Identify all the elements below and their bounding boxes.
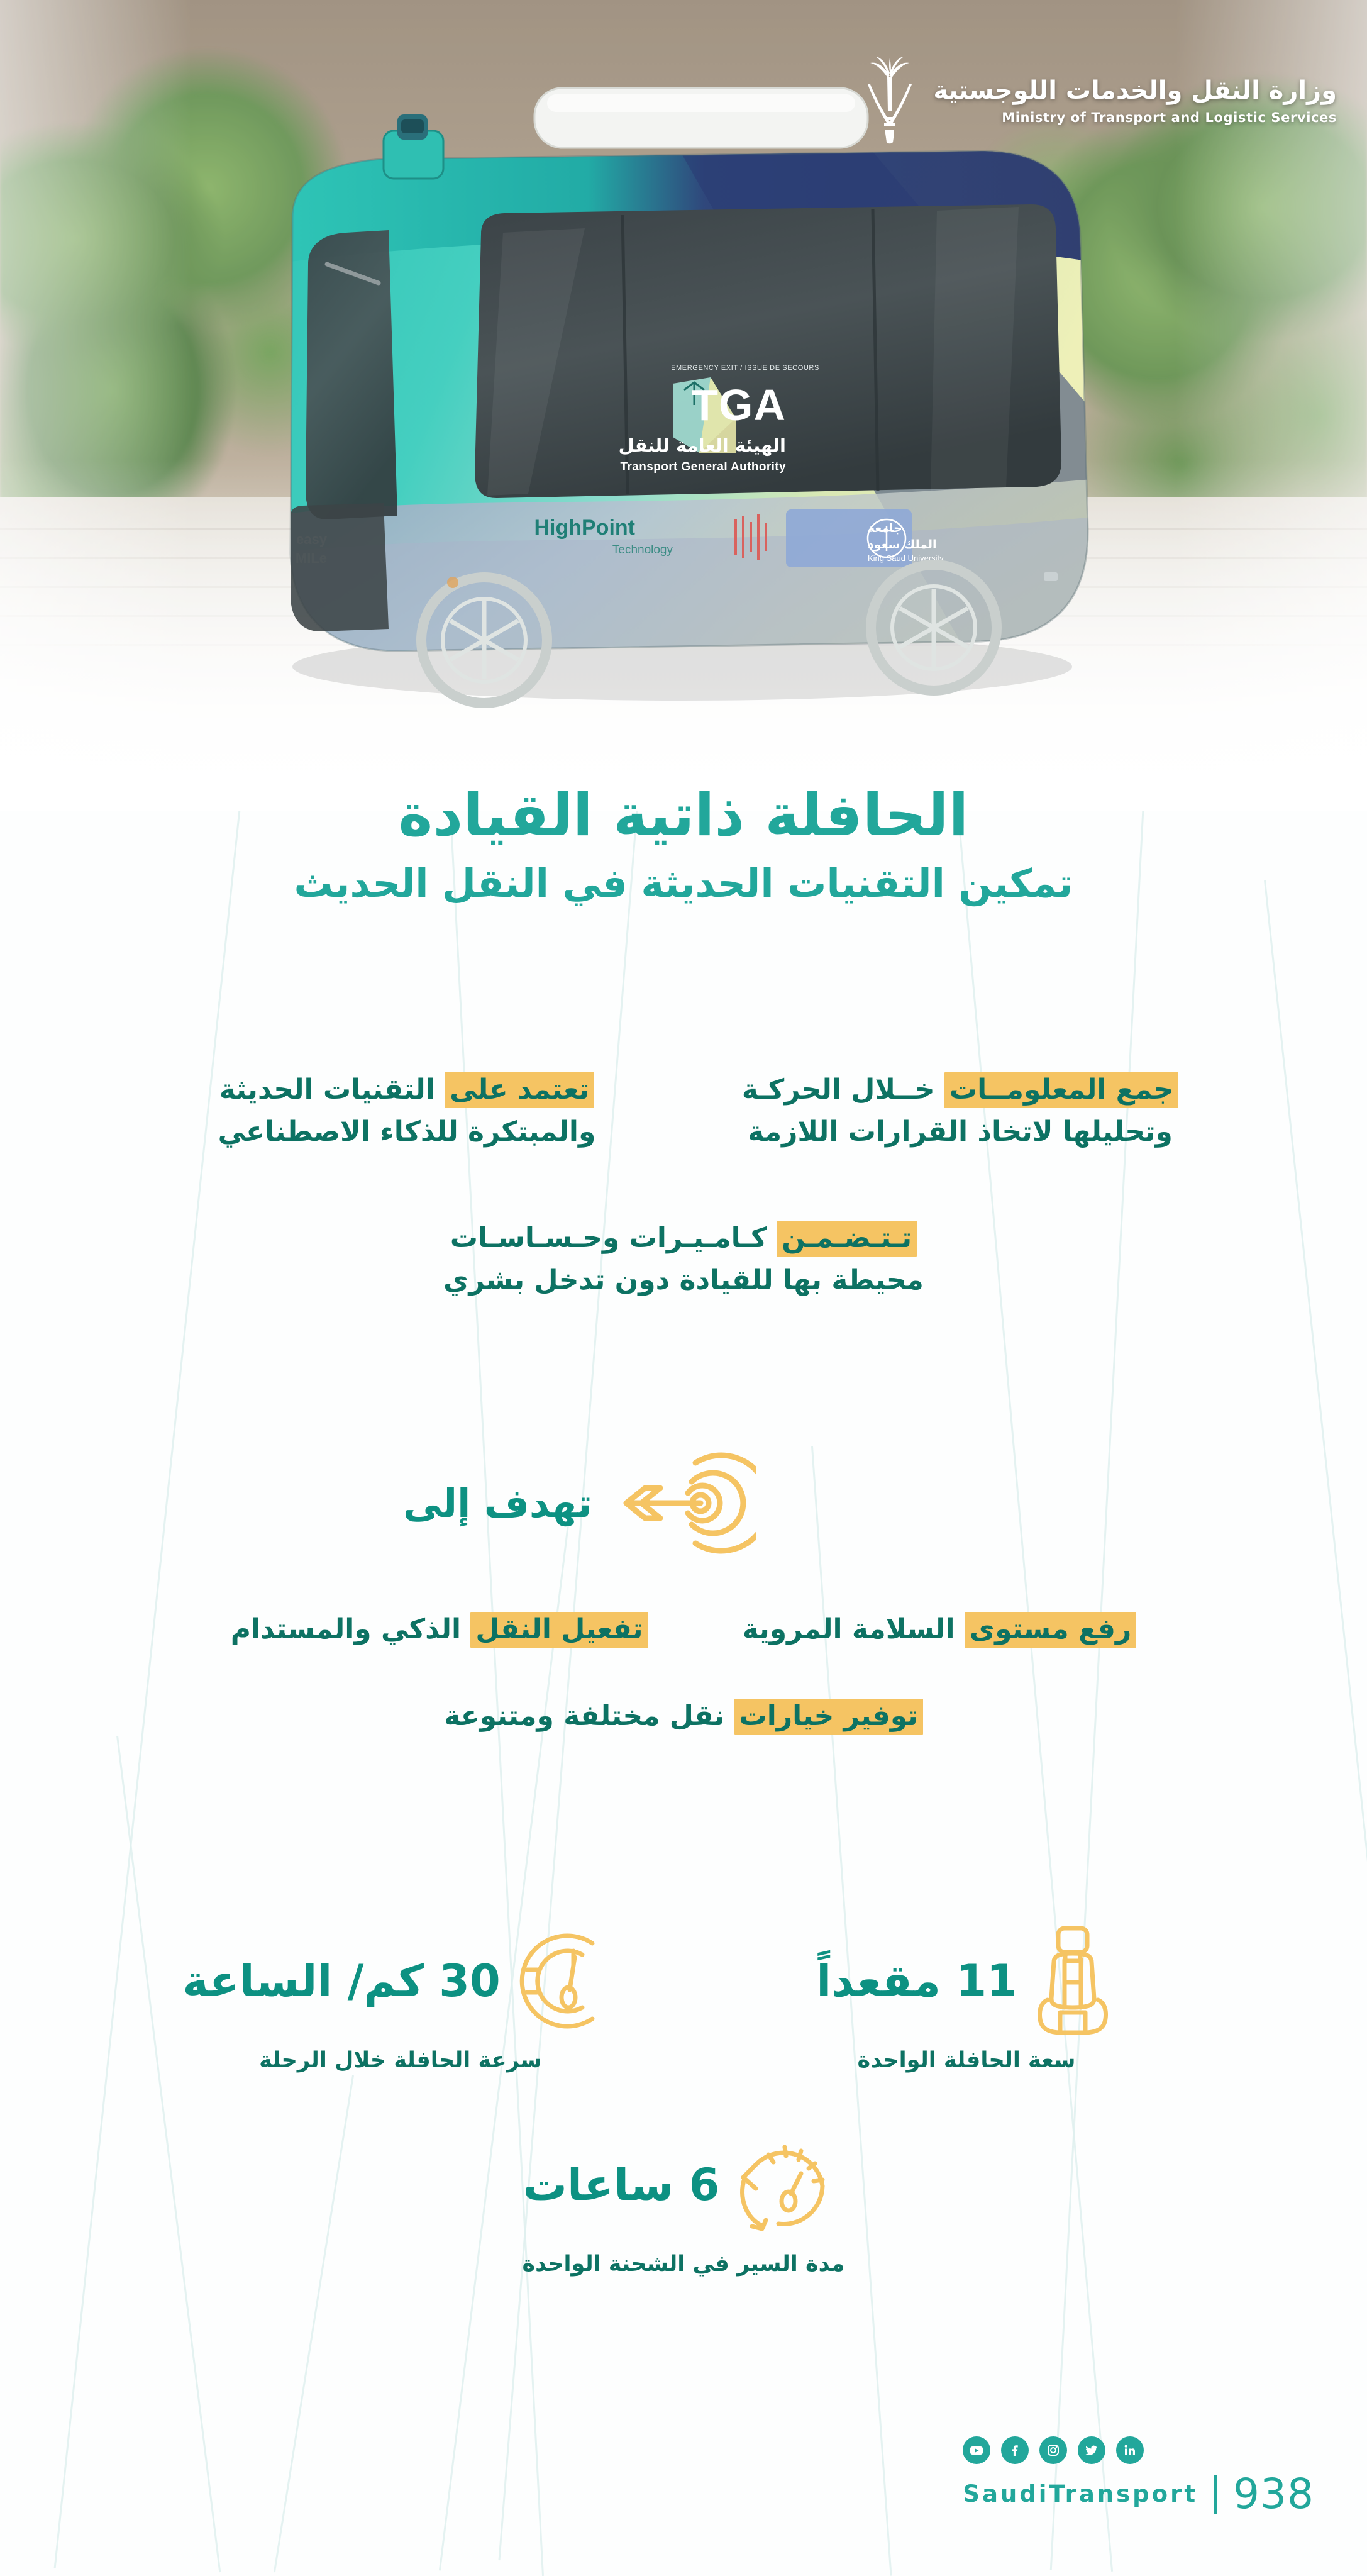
svg-text:Transport General Authority: Transport General Authority [621, 460, 787, 474]
stat-speed-value: 30 كم/ الساعة [182, 1955, 500, 2007]
footer-divider [1214, 2475, 1217, 2514]
stats-row-bottom: 6 ساعات مدة السير في الشحنة الواحدة [0, 2128, 1367, 2277]
goal-item-smart-transport: تفعيل النقل الذكي والمستدام [231, 1609, 648, 1650]
stats-section: 11 مقعداً سعة الحافلة الواحدة [0, 1924, 1367, 2277]
infographic-poster: EMERGENCY EXIT / ISSUE DE SECOURS TGA ال… [0, 0, 1367, 2576]
feature-item-information: جمع المعلومــات خــلال الحركـة وتحليلها … [718, 1069, 1202, 1153]
features-section: جمع المعلومــات خــلال الحركـة وتحليلها … [0, 1069, 1367, 1302]
short-number: 938 [1233, 2470, 1314, 2518]
stats-row-top: 11 مقعداً سعة الحافلة الواحدة [0, 1924, 1367, 2073]
page-title: الحافلة ذاتية القيادة [0, 783, 1367, 847]
stat-seats-caption: سعة الحافلة الواحدة [759, 2048, 1174, 2073]
feature-highlight: تعتمد على [445, 1072, 594, 1108]
feature-rest: التقنيات الحديثة [219, 1074, 445, 1106]
youtube-icon[interactable] [963, 2436, 990, 2464]
social-links [963, 2436, 1314, 2464]
goal-rest: الذكي والمستدام [231, 1613, 471, 1645]
stat-duration-caption: مدة السير في الشحنة الواحدة [476, 2251, 891, 2277]
ministry-name-english: Ministry of Transport and Logistic Servi… [933, 110, 1337, 126]
stat-seats-main: 11 مقعداً [759, 1924, 1174, 2038]
goal-highlight: توفير خيارات [734, 1699, 923, 1735]
facebook-icon[interactable] [1001, 2436, 1029, 2464]
page-subtitle: تمكين التقنيات الحديثة في النقل الحديث [0, 861, 1367, 906]
autonomous-bus-illustration: EMERGENCY EXIT / ISSUE DE SECOURS TGA ال… [233, 75, 1132, 748]
goal-rest: السلامة المروية [743, 1613, 965, 1645]
body-sensor [447, 577, 458, 588]
svg-text:الملك سعود: الملك سعود [868, 538, 937, 552]
svg-text:جامعة: جامعة [868, 521, 902, 535]
saudi-palm-swords-emblem [863, 57, 917, 145]
features-row-top: جمع المعلومــات خــلال الحركـة وتحليلها … [0, 1069, 1367, 1153]
feature-rest: خــلال الحركـة [742, 1074, 944, 1106]
instagram-icon[interactable] [1039, 2436, 1067, 2464]
feature-item-sensors: تـتـضـمـن كـامـيـرات وحـسـاسـات محيطة به… [441, 1218, 926, 1302]
feature-line-1: تـتـضـمـن كـامـيـرات وحـسـاسـات [441, 1218, 926, 1260]
goal-highlight: رفع مستوى [965, 1612, 1136, 1648]
twitter-icon[interactable] [1078, 2436, 1105, 2464]
feature-highlight: جمع المعلومــات [944, 1072, 1178, 1108]
svg-text:Technology: Technology [612, 543, 673, 557]
feature-line-1: تعتمد على التقنيات الحديثة [165, 1069, 649, 1111]
bus-wheel-front [419, 575, 550, 706]
stat-seats-value: 11 مقعداً [816, 1955, 1017, 2007]
footer-bottom: SaudiTransport 938 [963, 2470, 1314, 2518]
speedometer-icon [512, 1924, 619, 2038]
emergency-exit-label: EMERGENCY EXIT / ISSUE DE SECOURS [671, 364, 819, 372]
features-row-bottom: تـتـضـمـن كـامـيـرات وحـسـاسـات محيطة به… [0, 1218, 1367, 1302]
ministry-logo-text: وزارة النقل والخدمات اللوجستية Ministry … [933, 76, 1337, 126]
ministry-logo: وزارة النقل والخدمات اللوجستية Ministry … [863, 57, 1337, 145]
feature-line-2: وتحليلها لاتخاذ القرارات اللازمة [718, 1111, 1202, 1153]
goals-row-top: رفع مستوى السلامة المروية تفعيل النقل ال… [0, 1609, 1367, 1650]
charge-duration-gauge-icon [731, 2128, 844, 2241]
stat-speed-caption: سرعة الحافلة خلال الرحلة [193, 2048, 608, 2073]
goal-highlight: تفعيل النقل [470, 1612, 648, 1648]
feature-line-2: والمبتكرة للذكاء الاصطناعي [165, 1111, 649, 1153]
ministry-name-arabic: وزارة النقل والخدمات اللوجستية [933, 76, 1337, 106]
stat-seats: 11 مقعداً سعة الحافلة الواحدة [759, 1924, 1174, 2073]
stat-duration-main: 6 ساعات [476, 2128, 891, 2241]
goals-heading: تهدف إلى [0, 1446, 1367, 1560]
feature-line-2: محيطة بها للقيادة دون تدخل بشري [441, 1260, 926, 1302]
stat-duration-value: 6 ساعات [523, 2159, 720, 2211]
social-handle: SaudiTransport [963, 2480, 1198, 2507]
goal-item-safety: رفع مستوى السلامة المروية [743, 1609, 1137, 1650]
feature-line-1: جمع المعلومــات خــلال الحركـة [718, 1069, 1202, 1111]
lidar-sensor [384, 114, 443, 179]
stat-duration: 6 ساعات مدة السير في الشحنة الواحدة [476, 2128, 891, 2277]
svg-text:HighPoint: HighPoint [534, 516, 635, 540]
footer: SaudiTransport 938 [963, 2436, 1314, 2518]
goals-heading-label: تهدف إلى [403, 1480, 592, 1526]
title-block: الحافلة ذاتية القيادة تمكين التقنيات الح… [0, 783, 1367, 906]
feature-rest: كـامـيـرات وحـسـاسـات [450, 1222, 777, 1254]
stat-speed: 30 كم/ الساعة سرعة الحافلة خلال الرحلة [193, 1924, 608, 2073]
goal-rest: نقل مختلفة ومتنوعة [444, 1700, 734, 1732]
goals-section: تهدف إلى رفع مستوى السلامة المروية تفعيل… [0, 1446, 1367, 1737]
goals-row-bottom: توفير خيارات نقل مختلفة ومتنوعة [0, 1696, 1367, 1737]
stat-speed-main: 30 كم/ الساعة [193, 1924, 608, 2038]
feature-item-technologies: تعتمد على التقنيات الحديثة والمبتكرة للذ… [165, 1069, 649, 1153]
linkedin-icon[interactable] [1116, 2436, 1144, 2464]
car-seat-icon [1029, 1924, 1117, 2038]
svg-text:TGA: TGA [691, 380, 786, 430]
target-arrow-icon [609, 1446, 756, 1560]
svg-text:الهيئة العامة للنقل: الهيئة العامة للنقل [619, 435, 786, 456]
hero-image: EMERGENCY EXIT / ISSUE DE SECOURS TGA ال… [0, 0, 1367, 811]
goal-item-options: توفير خيارات نقل مختلفة ومتنوعة [444, 1696, 923, 1737]
feature-highlight: تـتـضـمـن [777, 1221, 917, 1257]
